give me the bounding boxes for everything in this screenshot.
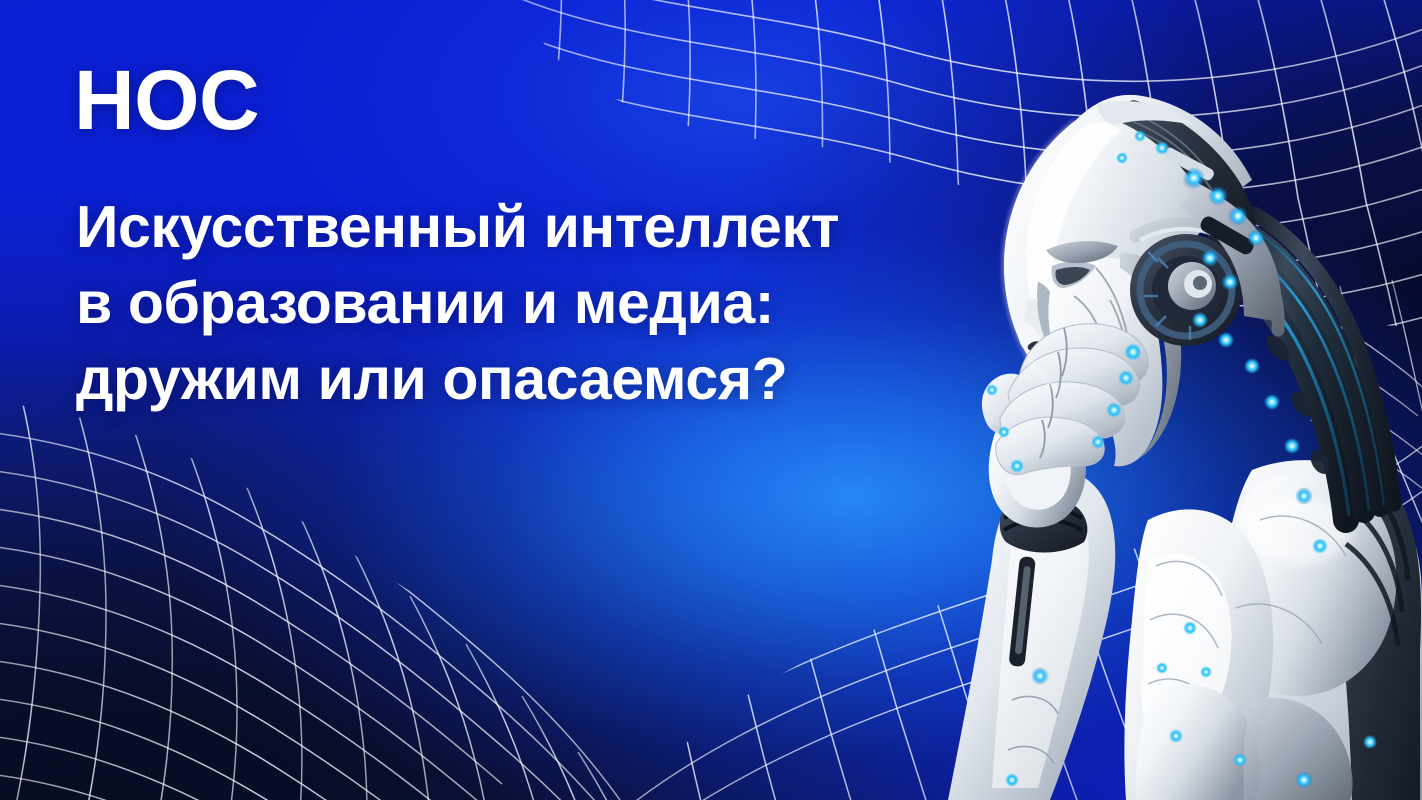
headline-line-1: Искусственный интеллект	[76, 189, 976, 265]
banner-canvas: НОС Искусственный интеллект в образовани…	[0, 0, 1422, 800]
brand-logo: НОС	[74, 58, 259, 142]
headline: Искусственный интеллект в образовании и …	[76, 189, 976, 417]
headline-line-2: в образовании и медиа:	[76, 265, 976, 341]
headline-line-3: дружим или опасаемся?	[76, 341, 976, 417]
